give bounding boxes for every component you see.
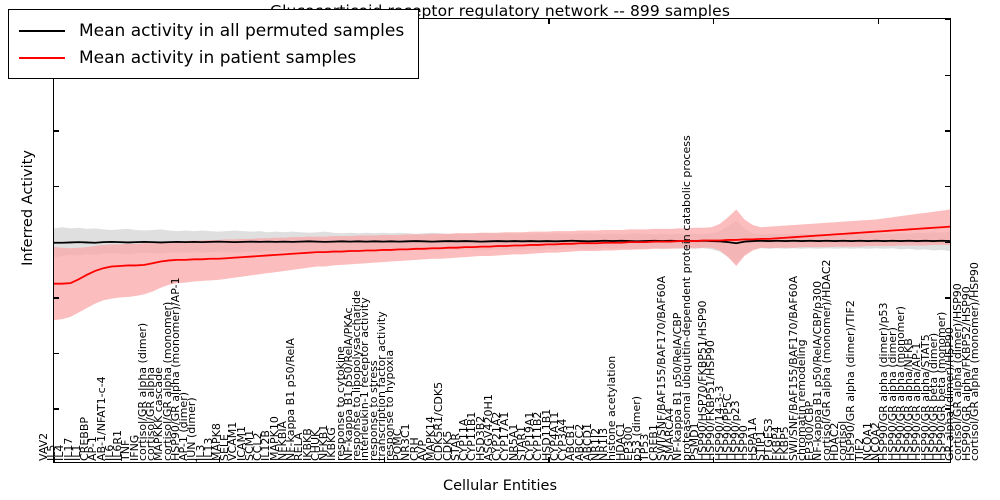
plot-area [53,18,951,463]
y-tick-mark [945,130,950,131]
y-tick-mark [945,353,950,354]
legend-label-permuted: Mean activity in all permuted samples [79,21,404,41]
x-axis-label: Cellular Entities [0,478,1000,494]
legend-swatch-permuted [19,30,65,32]
x-category-label: VAV2 [38,433,49,461]
x-tick-mark [548,19,549,24]
y-tick-mark [54,242,59,243]
legend-label-patient: Mean activity in patient samples [79,48,356,68]
y-tick-mark [945,186,950,187]
x-tick-mark [713,19,714,24]
x-tick-mark [878,19,879,24]
chart-figure: Glucocorticoid receptor regulatory netwo… [0,0,1000,500]
x-tick-mark [384,457,385,462]
y-tick-mark [54,353,59,354]
series-canvas [54,19,950,462]
confidence-band [54,209,950,320]
x-tick-mark [548,457,549,462]
x-category-label: cortisol/GR alpha (monomer)/HSP90 [969,262,980,461]
chart-legend: Mean activity in all permuted samples Me… [8,9,419,79]
x-tick-mark [54,457,55,462]
y-tick-mark [945,408,950,409]
x-tick-mark [713,457,714,462]
x-category-label: HSP90/GR alpha/FKBP52/HSP90 [961,286,972,461]
y-tick-mark [945,242,950,243]
legend-swatch-patient [19,57,65,59]
y-tick-mark [945,19,950,20]
x-tick-mark [878,457,879,462]
x-tick-mark [219,457,220,462]
y-tick-mark [54,186,59,187]
x-category-label: cortisol/GR alpha (dimer)/HSP90 [952,283,963,461]
legend-entry-permuted: Mean activity in all permuted samples [19,17,404,44]
y-tick-mark [54,130,59,131]
y-tick-mark [54,408,59,409]
y-tick-mark [54,297,59,298]
y-tick-mark [945,75,950,76]
legend-entry-patient: Mean activity in patient samples [19,44,404,71]
y-tick-mark [945,297,950,298]
